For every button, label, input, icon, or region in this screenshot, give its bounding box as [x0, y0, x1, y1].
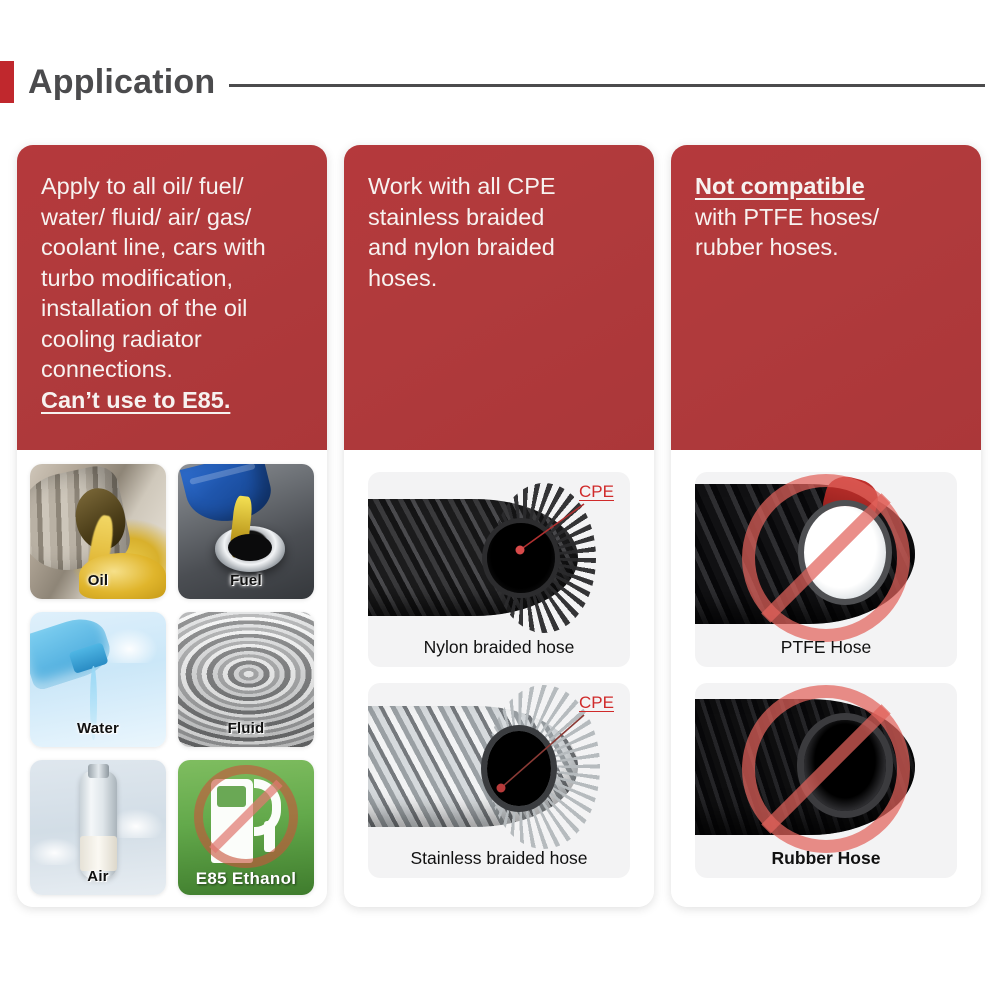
incompatible-panels: PTFE Hose Rubber Hose — [683, 460, 969, 878]
panel-caption-ptfe-hose: PTFE Hose — [695, 637, 957, 658]
no-entry-icon — [194, 765, 297, 868]
compatible-card-text-panel: Work with all CPE stainless braided and … — [344, 145, 654, 450]
tile-fluid: Fluid — [178, 612, 314, 747]
text-line-4: turbo modification, — [41, 265, 233, 291]
panel-nylon-braided-hose: CPE Nylon braided hose — [368, 472, 630, 667]
text-line-2: water/ fluid/ air/ gas/ — [41, 204, 251, 230]
incompatible-card-image-panel: PTFE Hose Rubber Hose — [671, 450, 981, 907]
text-line-2: rubber hoses. — [695, 234, 839, 260]
ptfe-hose-icon — [695, 484, 915, 624]
not-compatible-emphasis: Not compatible — [695, 173, 865, 199]
incompatible-card-text-panel: Not compatible with PTFE hoses/ rubber h… — [671, 145, 981, 450]
text-line-1: with PTFE hoses/ — [695, 204, 879, 230]
text-line-3: coolant line, cars with — [41, 234, 266, 260]
text-line-3: and nylon braided — [368, 234, 555, 260]
panel-caption-nylon-braided-hose: Nylon braided hose — [368, 637, 630, 658]
tile-label-air: Air — [30, 868, 166, 885]
tile-e85-ethanol: E85 Ethanol — [178, 760, 314, 895]
tile-water: Water — [30, 612, 166, 747]
compatible-card-body-text: Work with all CPE stainless braided and … — [368, 171, 632, 293]
panel-ptfe-hose: PTFE Hose — [695, 472, 957, 667]
panel-caption-rubber-hose: Rubber Hose — [695, 848, 957, 869]
compatible-card-image-panel: CPE Nylon braided hose CPE Stainless bra… — [344, 450, 654, 907]
tile-label-e85-ethanol: E85 Ethanol — [178, 869, 314, 889]
tile-fuel: Fuel — [178, 464, 314, 599]
panel-rubber-hose: Rubber Hose — [695, 683, 957, 878]
cards-row: Apply to all oil/ fuel/ water/ fluid/ ai… — [17, 145, 983, 907]
application-card-body-text: Apply to all oil/ fuel/ water/ fluid/ ai… — [41, 171, 305, 415]
application-warning-text: Can’t use to E85. — [41, 387, 230, 413]
text-line-1: Apply to all oil/ fuel/ — [41, 173, 243, 199]
text-line-6: cooling radiator — [41, 326, 202, 352]
application-card: Apply to all oil/ fuel/ water/ fluid/ ai… — [17, 145, 327, 907]
cpe-marker-label: CPE — [579, 482, 614, 502]
text-line-7: connections. — [41, 356, 173, 382]
compatible-panels: CPE Nylon braided hose CPE Stainless bra… — [356, 460, 642, 878]
tile-air: Air — [30, 760, 166, 895]
tile-label-fuel: Fuel — [178, 572, 314, 589]
application-card-image-panel: Oil Fuel Water — [17, 450, 327, 907]
tile-oil: Oil — [30, 464, 166, 599]
text-line-2: stainless braided — [368, 204, 544, 230]
header-divider-line — [229, 84, 985, 87]
infographic-page: Application Apply to all oil/ fuel/ wate… — [0, 0, 1000, 1000]
compatible-card: Work with all CPE stainless braided and … — [344, 145, 654, 907]
header-accent-bar — [0, 61, 14, 103]
tile-label-water: Water — [30, 720, 166, 737]
application-tile-grid: Oil Fuel Water — [29, 460, 315, 895]
e85-prohibited-icon: E85 Ethanol — [178, 760, 314, 895]
cpe-marker-label: CPE — [579, 693, 614, 713]
rubber-hose-icon — [695, 699, 915, 836]
incompatible-card: Not compatible with PTFE hoses/ rubber h… — [671, 145, 981, 907]
text-line-1: Work with all CPE — [368, 173, 556, 199]
text-line-5: installation of the oil — [41, 295, 247, 321]
panel-stainless-braided-hose: CPE Stainless braided hose — [368, 683, 630, 878]
application-card-text-panel: Apply to all oil/ fuel/ water/ fluid/ ai… — [17, 145, 327, 450]
page-title: Application — [28, 65, 215, 99]
text-line-4: hoses. — [368, 265, 437, 291]
panel-caption-stainless-braided-hose: Stainless braided hose — [368, 848, 630, 869]
section-header: Application — [0, 58, 1000, 106]
tile-label-fluid: Fluid — [178, 720, 314, 737]
tile-label-oil: Oil — [30, 572, 166, 589]
incompatible-card-body-text: Not compatible with PTFE hoses/ rubber h… — [695, 171, 959, 263]
